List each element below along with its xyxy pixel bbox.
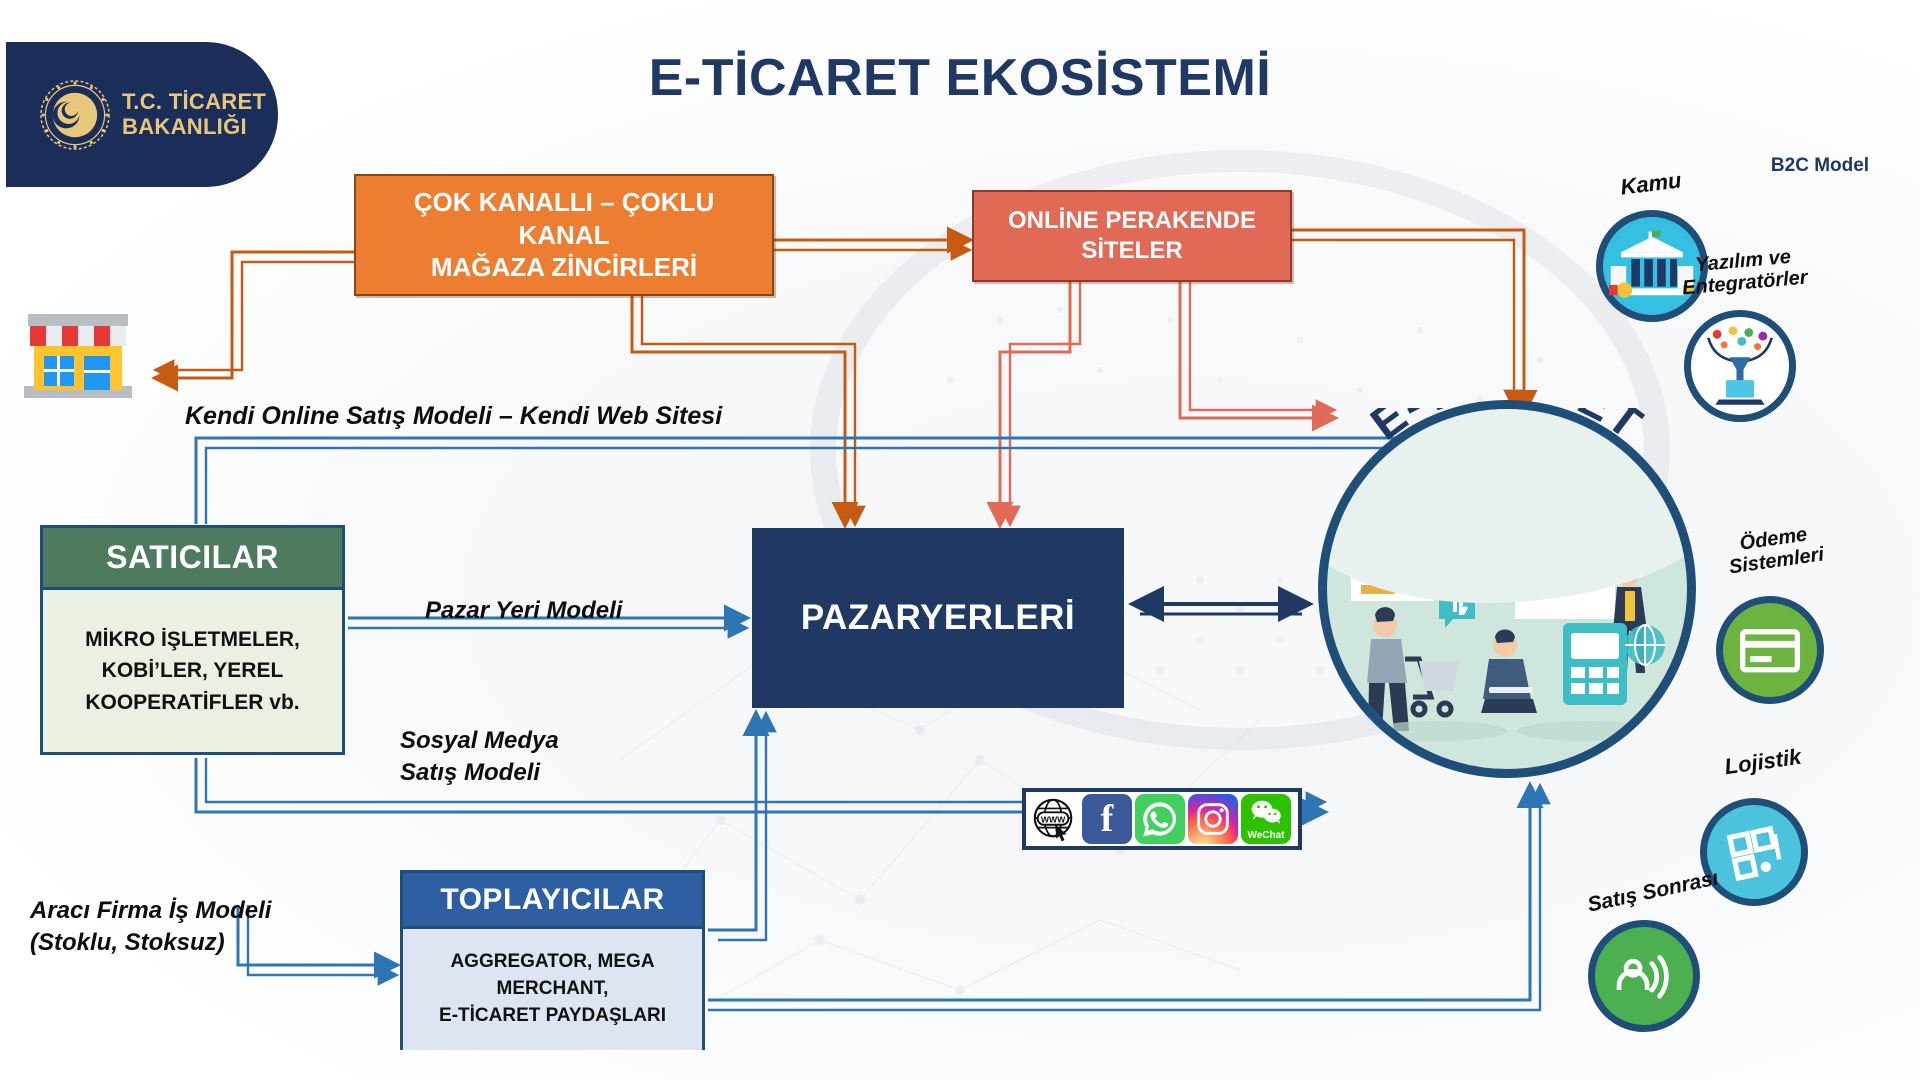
multichannel-line-1: ÇOK KANALLI – ÇOKLU — [414, 186, 714, 219]
after-sales-support-icon — [1605, 937, 1683, 1015]
credit-card-icon — [1732, 612, 1808, 688]
sellers-body-line-3: KOOPERATİFLER vb. — [85, 687, 300, 719]
online-retail-line-1: ONLİNE PERAKENDE — [1008, 206, 1256, 236]
multichannel-line-3: MAĞAZA ZİNCİRLERİ — [414, 251, 714, 284]
badge-odeme-sistemleri[interactable] — [1716, 596, 1824, 704]
badge-satis-sonrasi[interactable] — [1588, 920, 1700, 1032]
label-social-media-model: Sosyal Medya Satış Modeli — [400, 725, 559, 789]
node-multichannel-stores[interactable]: ÇOK KANALLI – ÇOKLU KANAL MAĞAZA ZİNCİRL… — [354, 174, 774, 296]
intermediary-line-2: (Stoklu, Stoksuz) — [30, 927, 271, 959]
sellers-body-line-1: MİKRO İŞLETMELER, — [85, 624, 300, 656]
hub-background-wave — [1318, 400, 1696, 603]
label-marketplace-model: Pazar Yeri Modeli — [425, 595, 622, 627]
marketplaces-label: PAZARYERLERİ — [801, 598, 1075, 638]
social-model-line-2: Satış Modeli — [400, 757, 559, 789]
online-retail-line-2: SİTELER — [1008, 236, 1256, 266]
aggregators-body-line-2: MERCHANT, — [439, 976, 666, 1003]
node-marketplaces[interactable]: PAZARYERLERİ — [752, 528, 1124, 708]
aggregators-header: TOPLAYICILAR — [403, 873, 702, 929]
aggregators-body: AGGREGATOR, MEGA MERCHANT, E-TİCARET PAY… — [403, 929, 702, 1050]
node-sellers[interactable]: SATICILAR MİKRO İŞLETMELER, KOBİ’LER, YE… — [40, 525, 345, 755]
page-title: E-TİCARET EKOSİSTEMİ — [0, 48, 1920, 108]
whatsapp-icon[interactable] — [1135, 794, 1185, 844]
infographic-canvas: T.C. TİCARET BAKANLIĞI E-TİCARET EKOSİST… — [0, 0, 1920, 1080]
www-globe-icon[interactable]: WWW — [1029, 794, 1079, 844]
social-model-line-1: Sosyal Medya — [400, 725, 559, 757]
intermediary-line-1: Aracı Firma İş Modeli — [30, 895, 271, 927]
aggregators-body-line-1: AGGREGATOR, MEGA — [439, 949, 666, 976]
wechat-label: WeChat — [1247, 830, 1284, 841]
logo-line-2: BAKANLIĞI — [122, 115, 266, 140]
svg-text:WWW: WWW — [1041, 814, 1066, 824]
b2c-model-label: B2C Model — [1720, 155, 1920, 177]
wechat-icon[interactable]: WeChat — [1241, 794, 1291, 844]
sellers-body: MİKRO İŞLETMELER, KOBİ’LER, YEREL KOOPER… — [43, 590, 342, 752]
sellers-header: SATICILAR — [43, 528, 342, 590]
storefront-icon — [18, 300, 138, 405]
node-ecommerce-hub[interactable] — [1318, 400, 1696, 778]
label-intermediary-model: Aracı Firma İş Modeli (Stoklu, Stoksuz) — [30, 895, 271, 959]
instagram-icon[interactable] — [1188, 794, 1238, 844]
facebook-icon[interactable]: f — [1082, 794, 1132, 844]
multichannel-line-2: KANAL — [414, 219, 714, 252]
node-online-retail-sites[interactable]: ONLİNE PERAKENDE SİTELER — [972, 190, 1292, 282]
aggregators-body-line-3: E-TİCARET PAYDAŞLARI — [439, 1003, 666, 1030]
badge-yazilim-entegratorler[interactable] — [1684, 310, 1796, 422]
social-channels-strip[interactable]: WWW f — [1022, 788, 1302, 850]
node-aggregators[interactable]: TOPLAYICILAR AGGREGATOR, MEGA MERCHANT, … — [400, 870, 705, 1050]
software-integrator-icon — [1696, 322, 1784, 410]
label-own-online-model: Kendi Online Satış Modeli – Kendi Web Si… — [185, 400, 722, 433]
sellers-body-line-2: KOBİ’LER, YEREL — [85, 655, 300, 687]
